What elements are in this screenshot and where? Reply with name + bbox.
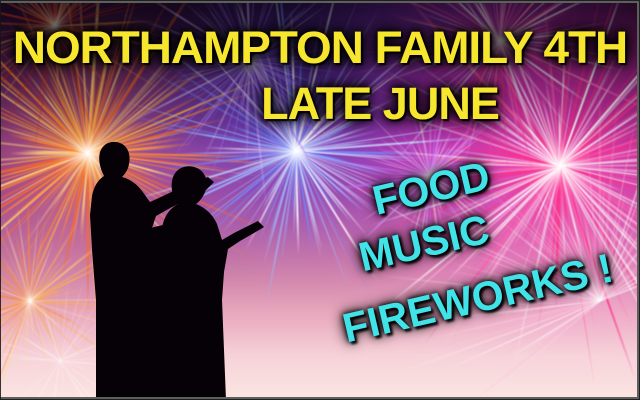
headline-line-2-wrap: LATE JUNE [0, 78, 640, 130]
fireworks-event-poster: NORTHAMPTON FAMILY 4TH LATE JUNE FOOD MU… [0, 0, 640, 400]
headline-line-2: LATE JUNE [261, 78, 499, 130]
headline-line-1: NORTHAMPTON FAMILY 4TH [0, 22, 640, 74]
